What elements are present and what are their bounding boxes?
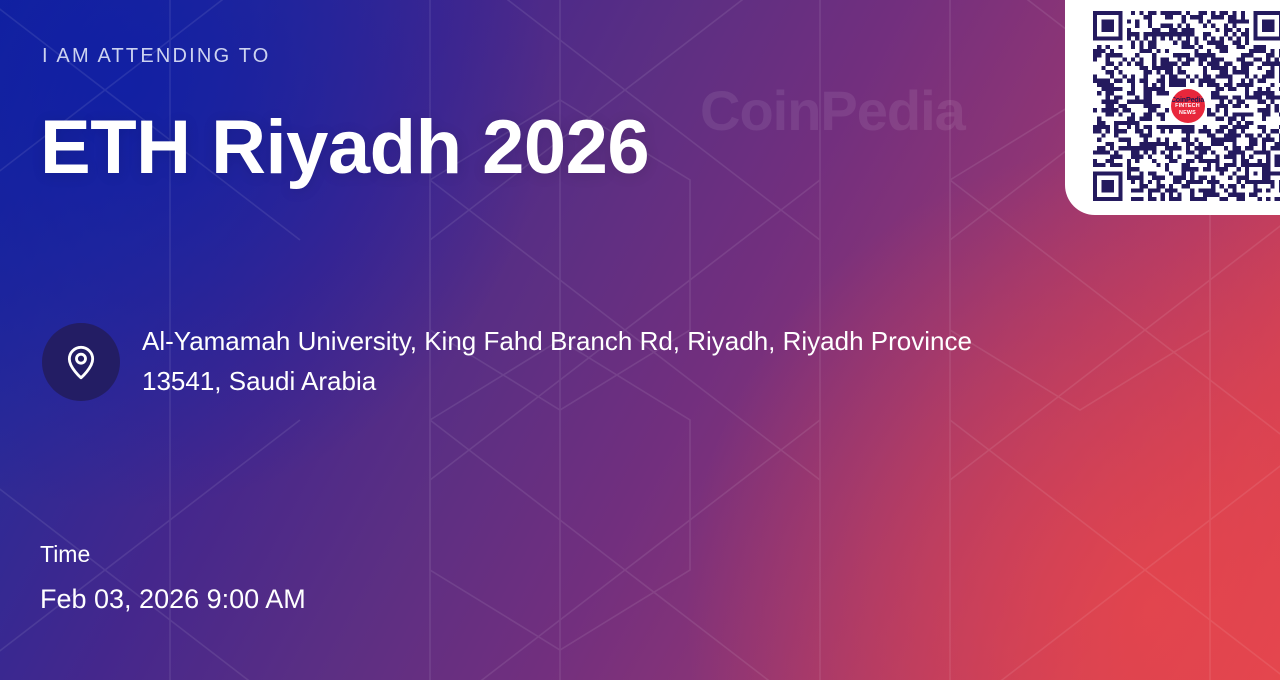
- venue-row: Al-Yamamah University, King Fahd Branch …: [42, 322, 1002, 401]
- background-tint-top-left: [0, 0, 580, 540]
- qr-code[interactable]: CoinPedia FINTECH NEWS: [1093, 11, 1280, 201]
- logo-subtitle-line1: FINTECH: [1175, 104, 1200, 109]
- page-title: ETH Riyadh 2026: [40, 108, 649, 188]
- eyebrow-label: I AM ATTENDING TO: [42, 45, 271, 68]
- coinpedia-watermark: CoinPedia: [700, 78, 965, 143]
- time-block: Time Feb 03, 2026 9:00 AM: [40, 540, 306, 617]
- venue-address: Al-Yamamah University, King Fahd Branch …: [142, 322, 1002, 401]
- logo-subtitle-line2: NEWS: [1179, 111, 1196, 116]
- coinpedia-logo-badge: CoinPedia FINTECH NEWS: [1169, 87, 1207, 125]
- map-pin-icon: [42, 323, 120, 401]
- time-value: Feb 03, 2026 9:00 AM: [40, 582, 306, 617]
- qr-code-panel[interactable]: CoinPedia FINTECH NEWS: [1065, 0, 1280, 215]
- logo-brand-text: CoinPedia: [1171, 96, 1204, 103]
- time-label: Time: [40, 540, 306, 570]
- event-attendance-card: CoinPedia CoinPedia FINTECH NEWS I AM AT…: [0, 0, 1280, 680]
